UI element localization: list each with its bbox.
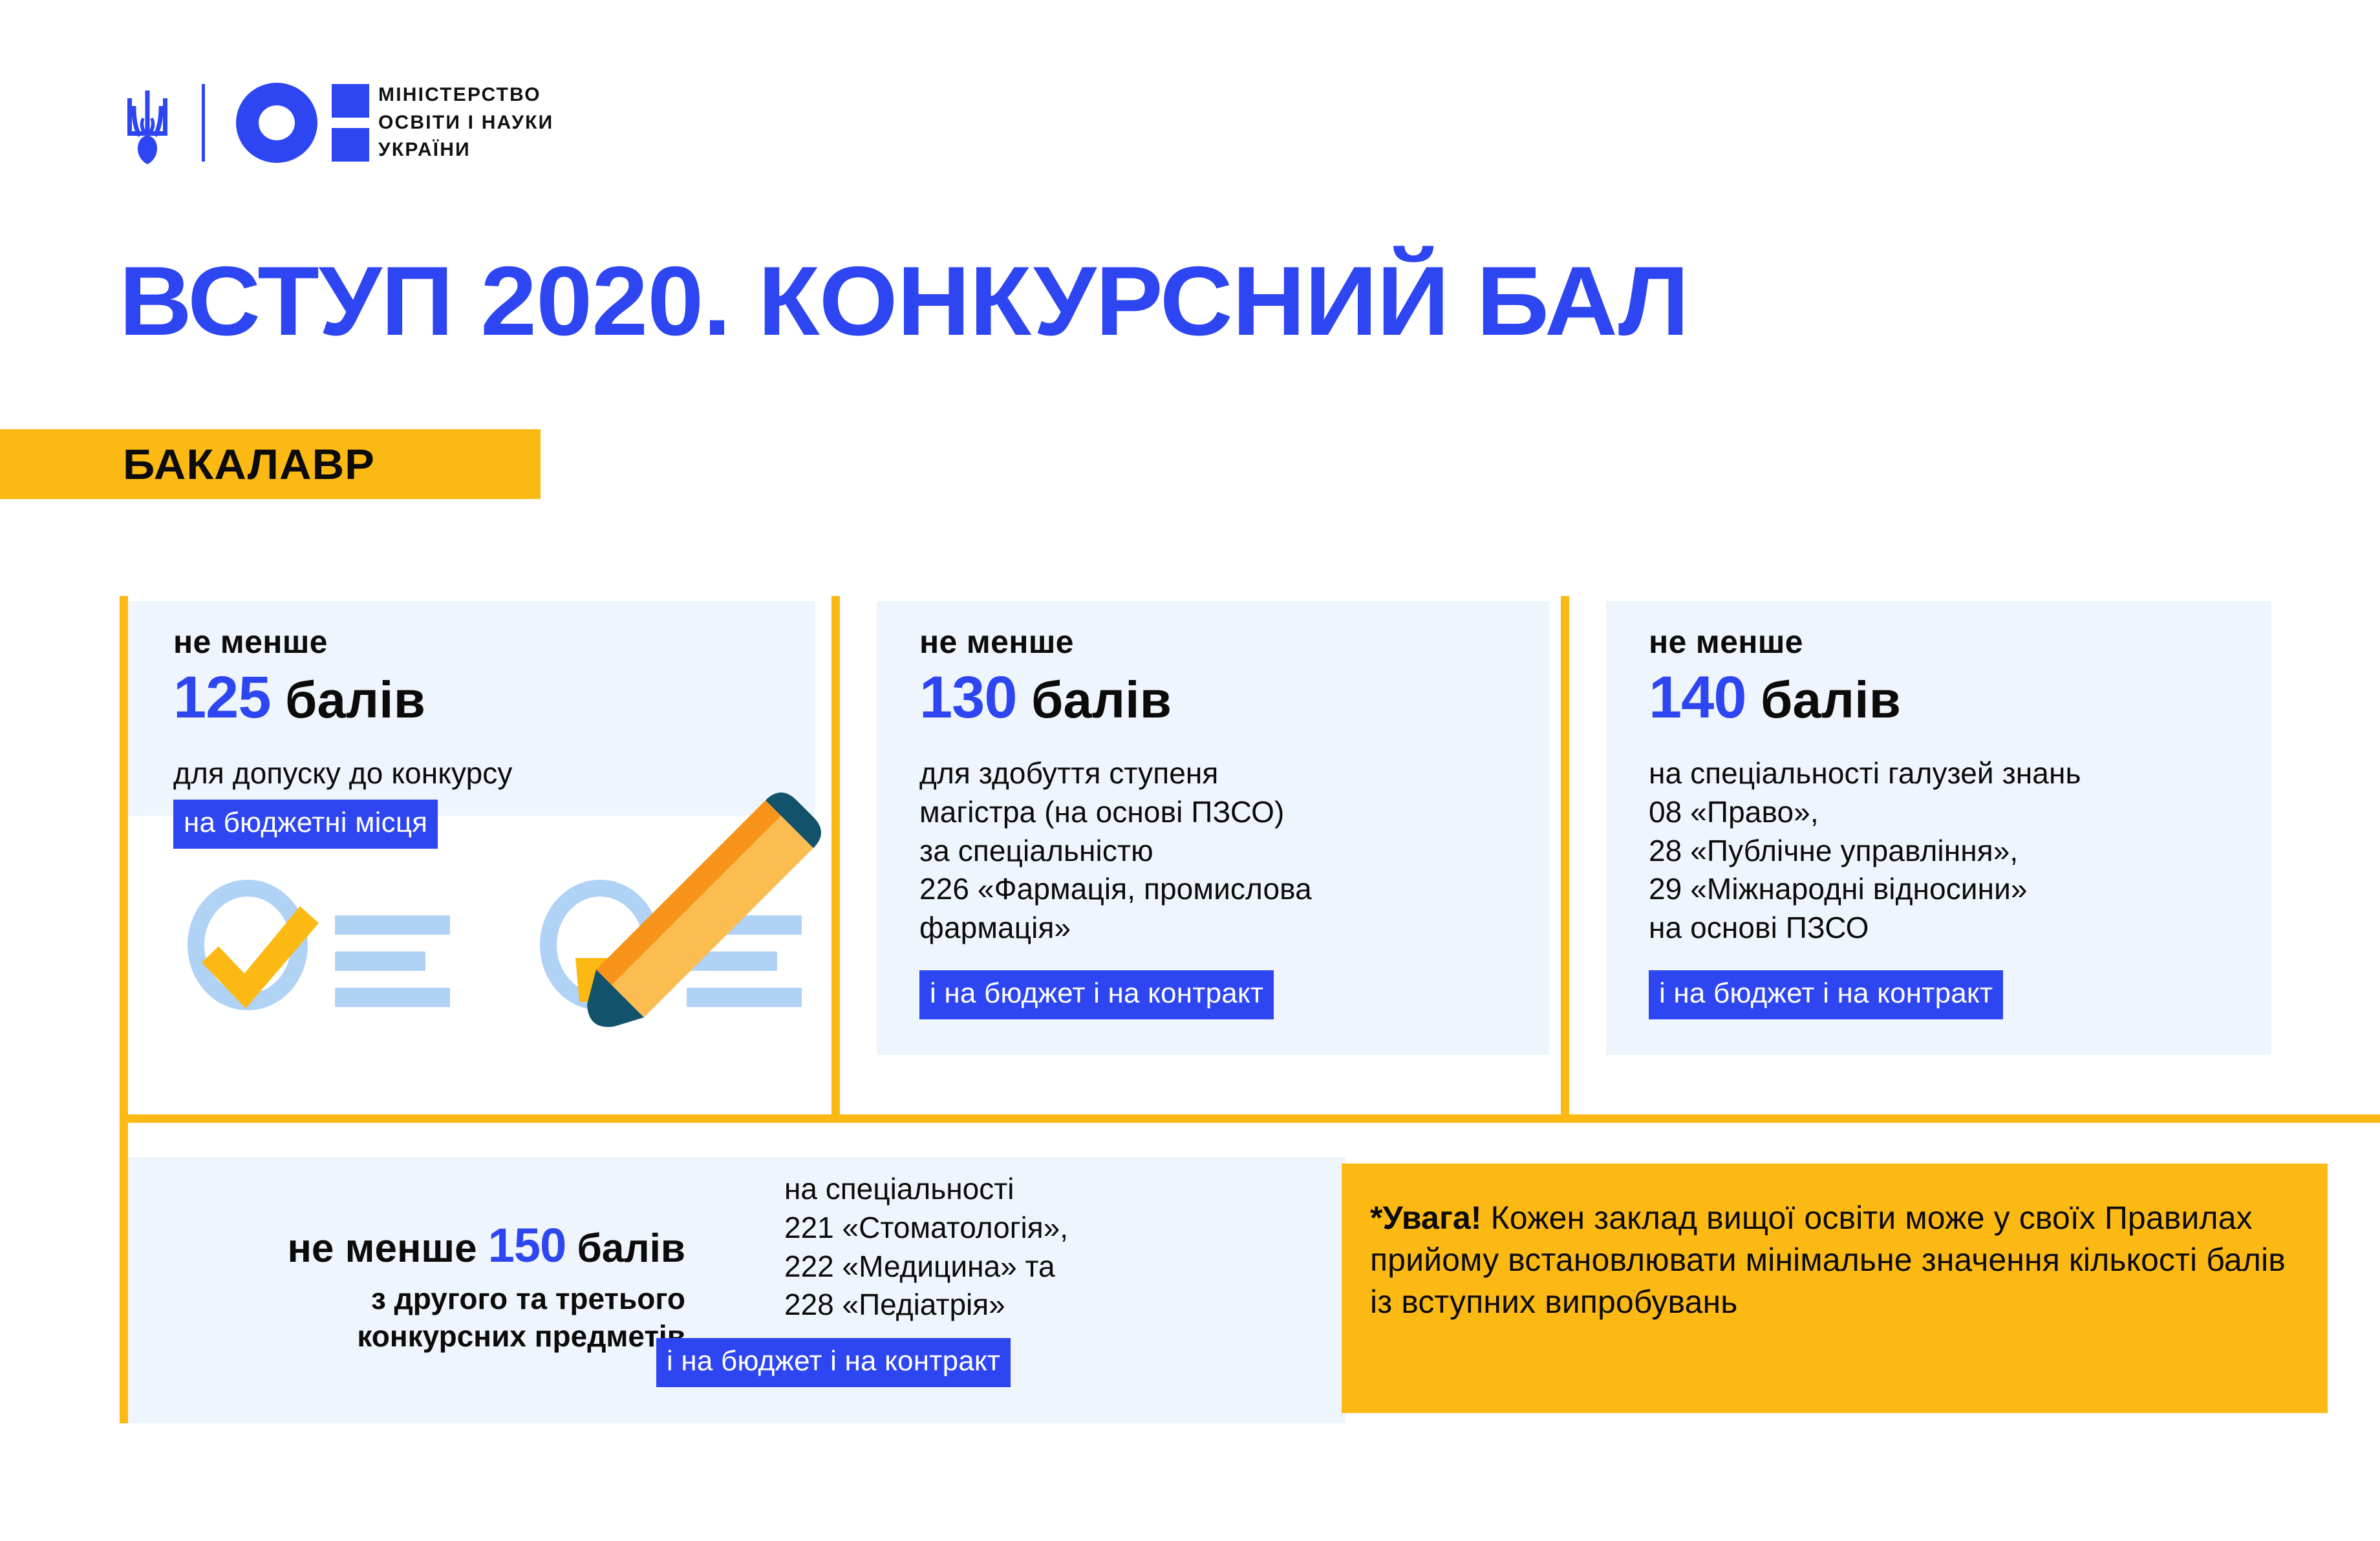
text-line: на спеціальності галузей знань	[1649, 754, 2271, 793]
ministry-name: МІНІСТЕРСТВО ОСВІТИ І НАУКИ УКРАЇНИ	[378, 81, 553, 164]
logo-divider	[202, 84, 205, 162]
card-140-pill: і на бюджет і на контракт	[1649, 970, 2003, 1019]
text-line: 226 «Фармація, промислова	[919, 870, 1549, 909]
card-150-left: не менше 150 балів з другого та третього…	[168, 1219, 685, 1355]
text-line: 222 «Медицина» та	[784, 1248, 1314, 1286]
card-130-description: для здобуття ступенямагістра (на основі …	[919, 754, 1549, 948]
card-150-prefix: не менше	[287, 1226, 477, 1271]
card-125-score-line: 125 балів	[173, 664, 815, 731]
card-125-prefix: не менше	[173, 624, 815, 659]
warning-body: Кожен заклад вищої освіти може у своїх П…	[1370, 1200, 2286, 1320]
card-150-subtitle: з другого та третього конкурсних предмет…	[168, 1281, 685, 1355]
card-150-right: на спеціальності221 «Стоматологія»,222 «…	[784, 1170, 1314, 1324]
text-line: 29 «Міжнародні відносини»	[1649, 870, 2271, 909]
text-line: на основі ПЗСО	[1649, 909, 2271, 948]
check-mark-icon	[196, 888, 319, 1008]
frame-divider-2	[1561, 596, 1569, 1118]
card-140-score: 140	[1649, 664, 1746, 730]
text-line: за спеціальністю	[919, 832, 1549, 871]
ministry-line-3: УКРАЇНИ	[378, 136, 553, 164]
card-150-score: 150	[488, 1218, 566, 1272]
ministry-line-1: МІНІСТЕРСТВО	[378, 81, 553, 109]
card-125-unit: балів	[285, 671, 425, 728]
warning-text: *Увага! Кожен заклад вищої освіти може у…	[1370, 1197, 2299, 1323]
frame-horizontal-rule	[120, 1114, 2380, 1123]
card-130-score-line: 130 балів	[919, 664, 1549, 731]
card-140-description: на спеціальності галузей знань08 «Право»…	[1649, 754, 2271, 948]
ministry-logo: МІНІСТЕРСТВО ОСВІТИ І НАУКИ УКРАЇНИ	[122, 71, 553, 175]
text-line: 228 «Педіатрія»	[784, 1286, 1314, 1324]
card-140-prefix: не менше	[1649, 624, 2271, 659]
card-150-sub-line-1: з другого та третього	[168, 1281, 685, 1318]
card-130-score: 130	[919, 664, 1017, 730]
ukraine-trident-icon	[122, 81, 173, 164]
page-title: ВСТУП 2020. КОНКУРСНИЙ БАЛ	[119, 252, 1689, 350]
text-line: 08 «Право»,	[1649, 793, 2271, 832]
list-lines-left	[335, 915, 450, 1007]
card-125-score: 125	[173, 664, 271, 730]
text-line: для здобуття ступеня	[919, 754, 1549, 793]
card-150-score-line: не менше 150 балів	[168, 1219, 685, 1273]
mon-o-colon-icon	[236, 81, 372, 164]
warning-box: *Увага! Кожен заклад вищої освіти може у…	[1342, 1164, 2328, 1413]
card-130-prefix: не менше	[919, 624, 1549, 659]
card-140-unit: балів	[1761, 671, 1901, 728]
frame-left-rail	[120, 596, 128, 1423]
checklist-with-pencil-illustration	[162, 763, 828, 1112]
text-line: 28 «Публічне управління»,	[1649, 832, 2271, 871]
infographic-page: МІНІСТЕРСТВО ОСВІТИ І НАУКИ УКРАЇНИ ВСТУ…	[0, 0, 2380, 1541]
degree-badge: БАКАЛАВР	[0, 429, 541, 499]
card-150-specialties: на спеціальності221 «Стоматологія»,222 «…	[784, 1170, 1314, 1324]
frame-divider-1	[831, 596, 840, 1118]
card-150-unit: балів	[577, 1226, 685, 1271]
card-130-pill: і на бюджет і на контракт	[919, 970, 1274, 1019]
card-130-unit: балів	[1031, 671, 1172, 728]
warning-bold-prefix: *Увага!	[1370, 1200, 1482, 1236]
card-150-pill: і на бюджет і на контракт	[656, 1338, 1011, 1387]
text-line: магістра (на основі ПЗСО)	[919, 793, 1549, 832]
text-line: фармація»	[919, 909, 1549, 948]
degree-badge-label: БАКАЛАВР	[123, 440, 375, 489]
card-150-sub-line-2: конкурсних предметів	[168, 1318, 685, 1355]
text-line: 221 «Стоматологія»,	[784, 1209, 1314, 1248]
card-140-score-line: 140 балів	[1649, 664, 2271, 731]
text-line: на спеціальності	[784, 1170, 1314, 1209]
ministry-line-2: ОСВІТИ І НАУКИ	[378, 109, 553, 137]
